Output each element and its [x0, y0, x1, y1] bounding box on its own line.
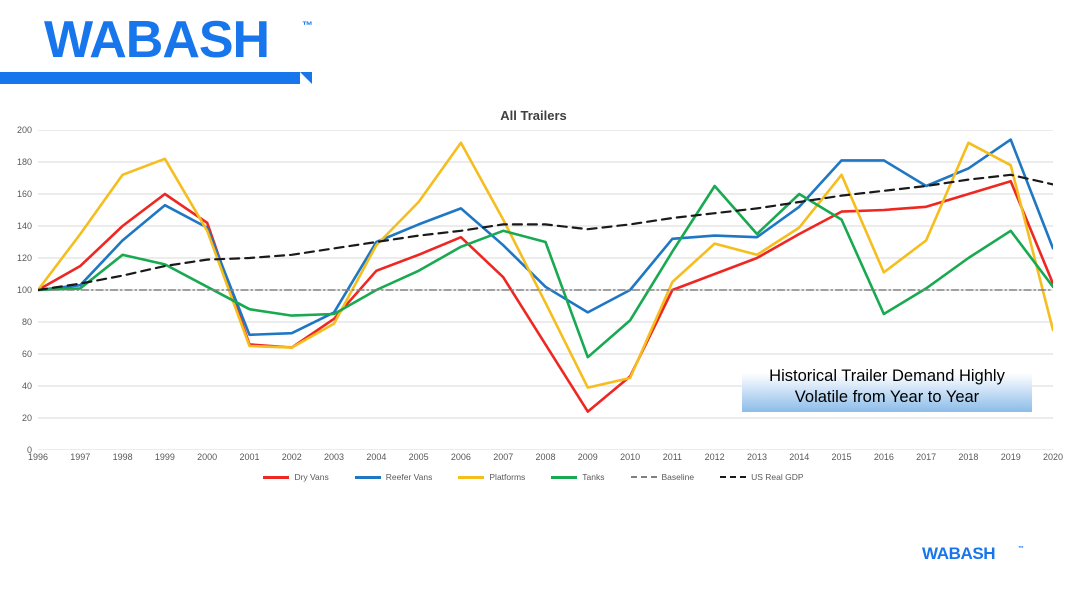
callout-line-2: Volatile from Year to Year [795, 387, 979, 408]
legend-item-us-real-gdp[interactable]: US Real GDP [720, 472, 803, 482]
callout-line-1: Historical Trailer Demand Highly [769, 366, 1005, 387]
wabash-logo-footer: WABASH ™ [922, 545, 1032, 567]
x-axis-tick: 2009 [578, 452, 598, 462]
wabash-logo-header: WABASH ™ [0, 0, 310, 92]
y-axis-tick: 160 [4, 189, 32, 199]
x-axis-tick: 2012 [705, 452, 725, 462]
y-axis-tick: 120 [4, 253, 32, 263]
x-axis-tick: 1999 [155, 452, 175, 462]
legend-item-baseline[interactable]: Baseline [631, 472, 695, 482]
x-axis-tick-labels: 1996199719981999200020012002200320042005… [38, 452, 1053, 468]
y-axis-tick: 40 [4, 381, 32, 391]
x-axis-tick: 2019 [1001, 452, 1021, 462]
x-axis-tick: 2007 [493, 452, 513, 462]
slide-canvas: WABASH ™ All Trailers 020406080100120140… [0, 0, 1067, 600]
legend-swatch-icon [355, 476, 381, 479]
x-axis-tick: 2018 [958, 452, 978, 462]
y-axis-tick: 140 [4, 221, 32, 231]
callout-box: Historical Trailer Demand Highly Volatil… [742, 362, 1032, 412]
y-axis-tick: 200 [4, 125, 32, 135]
legend-swatch-icon [458, 476, 484, 479]
y-axis-tick: 20 [4, 413, 32, 423]
x-axis-tick: 2010 [620, 452, 640, 462]
x-axis-tick: 2001 [239, 452, 259, 462]
all-trailers-chart: All Trailers 020406080100120140160180200… [0, 100, 1067, 500]
x-axis-tick: 2008 [535, 452, 555, 462]
trademark-symbol: ™ [302, 20, 313, 32]
legend-label: Platforms [489, 472, 525, 482]
x-axis-tick: 2014 [789, 452, 809, 462]
x-axis-tick: 2020 [1043, 452, 1063, 462]
x-axis-tick: 2002 [282, 452, 302, 462]
x-axis-tick: 1998 [113, 452, 133, 462]
x-axis-tick: 1997 [70, 452, 90, 462]
legend-item-reefer-vans[interactable]: Reefer Vans [355, 472, 433, 482]
x-axis-tick: 2013 [747, 452, 767, 462]
x-axis-tick: 1996 [28, 452, 48, 462]
legend-label: US Real GDP [751, 472, 803, 482]
legend-label: Reefer Vans [386, 472, 433, 482]
x-axis-tick: 2005 [409, 452, 429, 462]
x-axis-tick: 2016 [874, 452, 894, 462]
legend-item-platforms[interactable]: Platforms [458, 472, 525, 482]
wabash-footer-wordmark: WABASH [922, 545, 995, 562]
legend-label: Dry Vans [294, 472, 328, 482]
brand-accent-bar [0, 72, 300, 84]
wabash-wordmark: WABASH [44, 14, 269, 66]
legend-item-tanks[interactable]: Tanks [551, 472, 604, 482]
x-axis-tick: 2011 [663, 452, 682, 462]
x-axis-tick: 2003 [324, 452, 344, 462]
legend-label: Baseline [662, 472, 695, 482]
legend-swatch-icon [263, 476, 289, 479]
legend-swatch-icon [551, 476, 577, 479]
x-axis-tick: 2015 [832, 452, 852, 462]
y-axis-tick: 60 [4, 349, 32, 359]
x-axis-tick: 2017 [916, 452, 936, 462]
series-line-us-real-gdp [38, 175, 1053, 290]
y-axis-tick: 180 [4, 157, 32, 167]
x-axis-tick: 2000 [197, 452, 217, 462]
chart-legend: Dry VansReefer VansPlatformsTanksBaselin… [0, 472, 1067, 482]
legend-item-dry-vans[interactable]: Dry Vans [263, 472, 328, 482]
y-axis-tick: 80 [4, 317, 32, 327]
x-axis-tick: 2006 [451, 452, 471, 462]
legend-swatch-icon [631, 476, 657, 478]
series-line-platforms [38, 143, 1053, 388]
legend-swatch-icon [720, 476, 746, 478]
y-axis-tick-labels: 020406080100120140160180200 [0, 130, 32, 450]
footer-trademark-symbol: ™ [1018, 546, 1024, 552]
legend-label: Tanks [582, 472, 604, 482]
chart-title: All Trailers [0, 108, 1067, 123]
x-axis-tick: 2004 [366, 452, 386, 462]
y-axis-tick: 100 [4, 285, 32, 295]
